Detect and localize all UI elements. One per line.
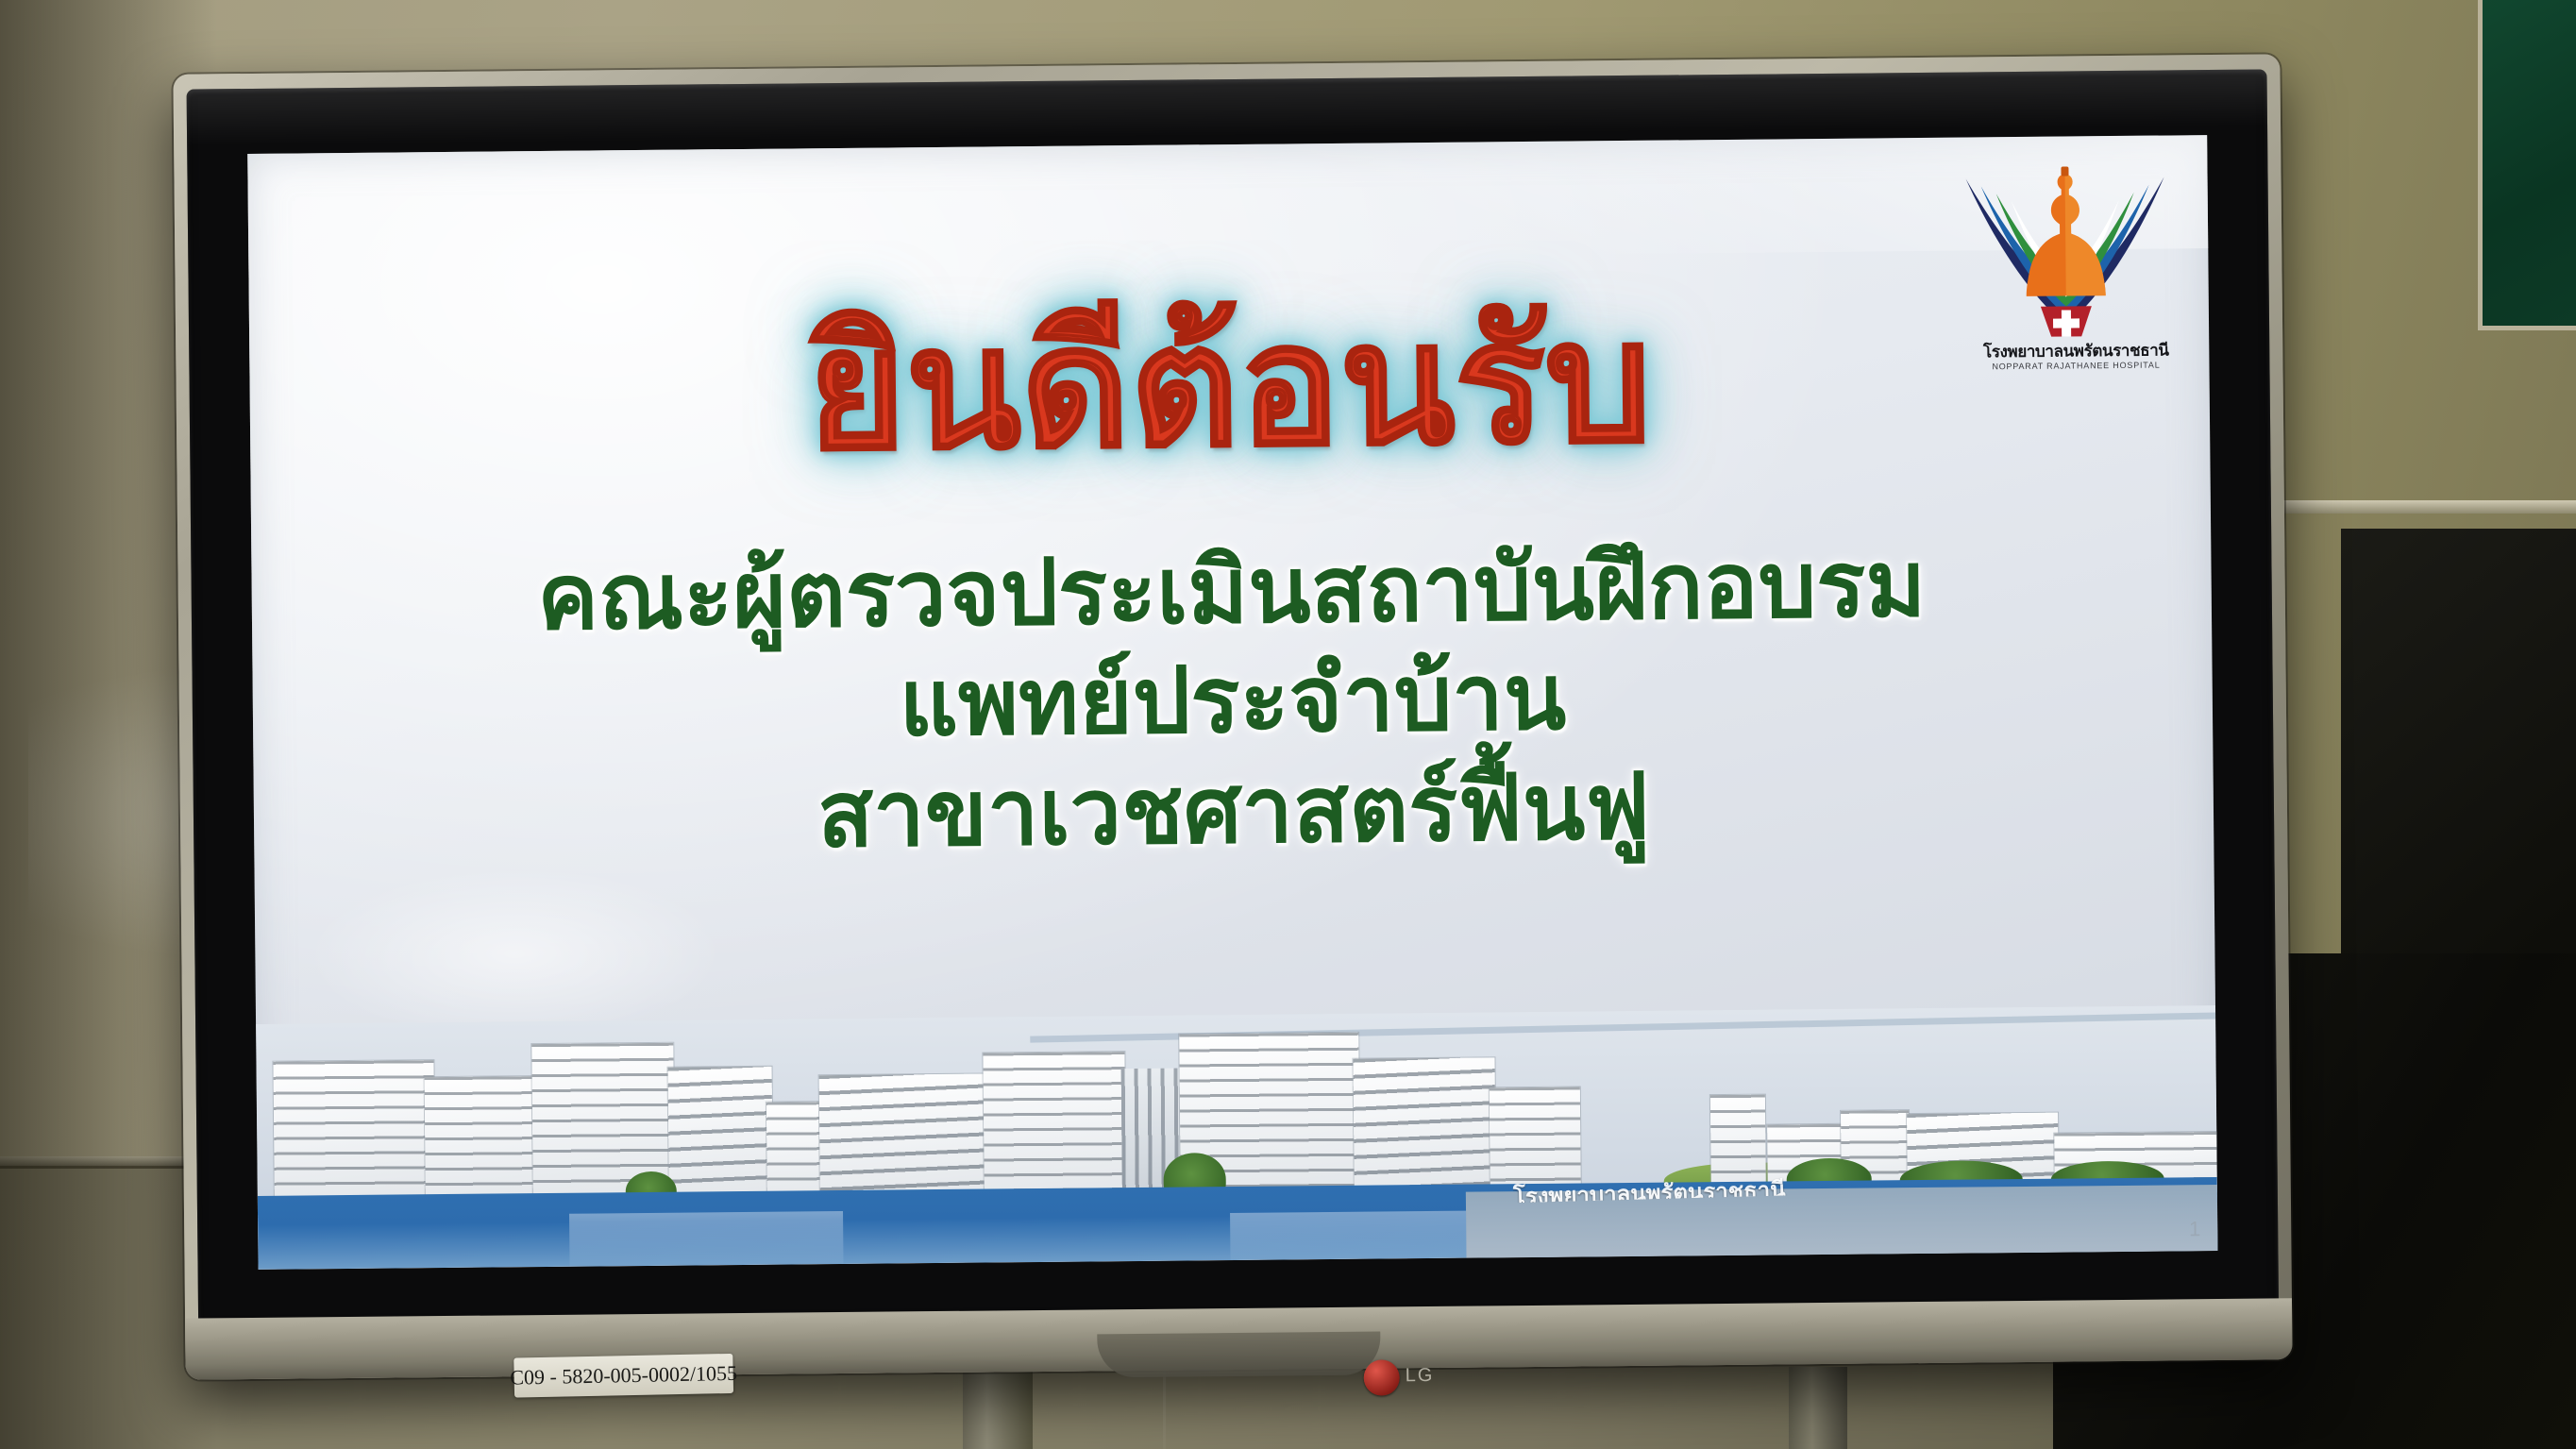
subtitle-line-1: คณะผู้ตรวจประเมินสถาบันฝึกอบรม <box>251 527 2212 655</box>
lg-brand-icon <box>1364 1359 1400 1395</box>
lg-brand-label: LG <box>1406 1365 1435 1387</box>
shelf-edge <box>2265 500 2576 514</box>
tv-wall-mount-right <box>1789 1367 1847 1449</box>
hospital-panorama-photo: โรงพยาบาลนพรัตนราชธานี 1 <box>256 1005 2217 1270</box>
subtitle-line-3: สาขาเวชศาสตร์ฟื้นฟู <box>253 747 2214 875</box>
asset-tag-text: C09 - 5820-005-0002/1055 <box>510 1361 737 1390</box>
slide-number: 1 <box>2189 1217 2200 1241</box>
green-board <box>2478 0 2576 330</box>
television[interactable]: โรงพยาบาลนพรัตนราชธานี NOPPARAT RAJATHAN… <box>173 54 2292 1379</box>
tv-wall-mount-left <box>963 1367 1033 1449</box>
subtitle-line-2: แพทย์ประจำบ้าน <box>252 636 2213 765</box>
dark-wall-panel-upper-right <box>2341 529 2576 972</box>
tv-chin-recess <box>1097 1332 1380 1378</box>
presentation-slide[interactable]: โรงพยาบาลนพรัตนราชธานี NOPPARAT RAJATHAN… <box>247 135 2217 1270</box>
room-scene: โรงพยาบาลนพรัตนราชธานี NOPPARAT RAJATHAN… <box>0 0 2576 1449</box>
photo-building-reflection <box>569 1211 844 1267</box>
slide-screen-hotspot <box>311 867 719 1040</box>
photo-building-reflection <box>1230 1211 1466 1260</box>
slide-subtitle: คณะผู้ตรวจประเมินสถาบันฝึกอบรม แพทย์ประจ… <box>251 527 2214 875</box>
slide-title: ยินดีต้อนรับ <box>249 286 2211 486</box>
asset-tag-label: C09 - 5820-005-0002/1055 <box>514 1354 733 1398</box>
